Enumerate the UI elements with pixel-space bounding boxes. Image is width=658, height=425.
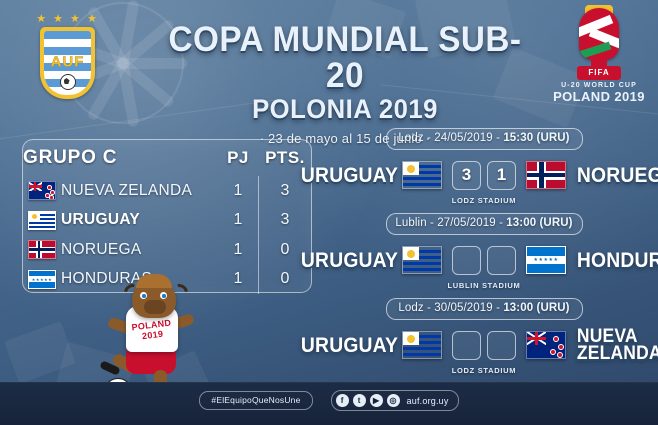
flag-cell: [23, 235, 61, 265]
mascot-jersey-text: POLAND 2019: [125, 317, 179, 343]
match-city-date: Lodz - 24/05/2019 -: [398, 132, 503, 144]
team-name: NUEVA ZELANDA: [61, 176, 218, 206]
flag-uruguay-icon: [402, 246, 442, 274]
crest-letters: AUF: [51, 53, 85, 70]
table-row: URUGUAY 1 3: [23, 206, 311, 236]
home-score: [452, 331, 481, 360]
youtube-icon[interactable]: ▶: [370, 394, 383, 407]
flag-uruguay-icon: [28, 211, 56, 230]
home-score: [452, 246, 481, 275]
footer-content: #ElEquipoQueNosUne f t ▶ ◎ auf.org.uy: [0, 390, 658, 411]
stadium-name: LODZ STADIUM: [316, 366, 652, 375]
fifa-u20-emblem: FIFA U-20 WORLD CUP POLAND 2019: [552, 8, 646, 116]
trophy-icon: FIFA: [571, 8, 627, 80]
footer-bar: #ElEquipoQueNosUne f t ▶ ◎ auf.org.uy: [0, 382, 658, 425]
emblem-host-label: POLAND 2019: [552, 89, 646, 104]
mascot-eye: [140, 292, 147, 299]
fixtures-list: Lodz - 24/05/2019 - 15:30 (URU) URUGUAY …: [316, 128, 652, 383]
match-card: Lodz - 24/05/2019 - 15:30 (URU) URUGUAY …: [316, 128, 652, 205]
team-name: URUGUAY: [61, 206, 218, 236]
home-team-name: URUGUAY: [301, 251, 391, 270]
flag-cell: ★★★★★: [23, 265, 61, 295]
column-played: PJ: [218, 140, 258, 176]
fifa-wordmark: FIFA: [571, 68, 627, 77]
matches-played: 1: [218, 265, 258, 295]
instagram-icon[interactable]: ◎: [387, 394, 400, 407]
facebook-icon[interactable]: f: [336, 394, 349, 407]
mascot-eye: [160, 292, 167, 299]
match-city-date: Lodz - 30/05/2019 -: [398, 302, 503, 314]
score-group: [449, 246, 519, 275]
away-team-name: NORUEGA: [577, 166, 658, 185]
crest-shield: AUF: [40, 27, 95, 99]
flag-honduras-icon: ★★★★★: [28, 270, 56, 289]
match-info-pill: Lublin - 27/05/2019 - 13:00 (URU): [386, 213, 583, 235]
home-team-name: URUGUAY: [301, 166, 391, 185]
flag-new-zealand-icon: [526, 331, 566, 359]
flag-norway-icon: [526, 161, 566, 189]
mascot-snout: [144, 300, 166, 314]
stadium-name: LUBLIN STADIUM: [316, 281, 652, 290]
score-group: 3 1: [449, 161, 519, 190]
matches-played: 1: [218, 176, 258, 206]
flag-cell: [23, 176, 61, 206]
flag-uruguay-icon: [402, 161, 442, 189]
away-team-name-line2: ZELANDA: [577, 345, 658, 362]
table-row: NORUEGA 1 0: [23, 235, 311, 265]
group-label: GRUPO C: [23, 140, 218, 176]
hashtag-badge: #ElEquipoQueNosUne: [199, 391, 312, 410]
flag-honduras-icon: ★★★★★: [526, 246, 566, 274]
score-group: [449, 331, 519, 360]
stadium-name: LODZ STADIUM: [316, 196, 652, 205]
flag-new-zealand-icon: [28, 181, 56, 200]
home-team-name: URUGUAY: [301, 336, 391, 355]
page-title: COPA MUNDIAL SUB-20: [160, 22, 531, 94]
match-city-date: Lublin - 27/05/2019 -: [395, 217, 506, 229]
crest-ball-icon: [60, 74, 76, 90]
match-card: Lublin - 27/05/2019 - 13:00 (URU) URUGUA…: [316, 213, 652, 290]
matches-played: 1: [218, 235, 258, 265]
mascot-hair: [136, 274, 172, 288]
flag-norway-icon: [28, 240, 56, 259]
twitter-icon[interactable]: t: [353, 394, 366, 407]
match-card: Lodz - 30/05/2019 - 13:00 (URU) URUGUAY: [316, 298, 652, 375]
match-row: URUGUAY ★★★★★ HONDURAS: [316, 240, 652, 280]
match-info-pill: Lodz - 30/05/2019 - 13:00 (URU): [386, 298, 583, 320]
flag-cell: [23, 206, 61, 236]
match-info-pill: Lodz - 24/05/2019 - 15:30 (URU): [386, 128, 583, 150]
crest-stars: ★ ★ ★ ★: [36, 14, 99, 25]
group-standings-panel: GRUPO C PJ PTS.: [22, 139, 312, 293]
home-score: 3: [452, 161, 481, 190]
away-team-name: HONDURAS: [577, 251, 658, 270]
matches-played: 1: [218, 206, 258, 236]
away-score: [487, 331, 516, 360]
page-subtitle-host: POLONIA 2019: [160, 95, 531, 124]
match-time: 15:30 (URU): [503, 132, 569, 144]
match-row: URUGUAY: [316, 325, 652, 365]
away-score: 1: [487, 161, 516, 190]
standings-table: GRUPO C PJ PTS.: [23, 140, 311, 294]
points: 3: [259, 206, 311, 236]
standings-header-row: GRUPO C PJ PTS.: [23, 140, 311, 176]
team-name: NORUEGA: [61, 235, 218, 265]
website-url[interactable]: auf.org.uy: [407, 396, 449, 406]
away-score: [487, 246, 516, 275]
match-row: URUGUAY 3 1 NORUEGA: [316, 155, 652, 195]
match-time: 13:00 (URU): [506, 217, 572, 229]
table-row: NUEVA ZELANDA 1 3: [23, 176, 311, 206]
away-team-name: NUEVA ZELANDA: [577, 328, 658, 362]
match-time: 13:00 (URU): [503, 302, 569, 314]
emblem-competition-label: U-20 WORLD CUP: [552, 82, 646, 89]
graphic-canvas: ★ ★ ★ ★ AUF COPA MUNDIAL SUB-20 POLONIA …: [0, 0, 658, 425]
auf-crest: ★ ★ ★ ★ AUF: [36, 14, 99, 100]
flag-uruguay-icon: [402, 331, 442, 359]
social-links-group[interactable]: f t ▶ ◎ auf.org.uy: [331, 390, 459, 411]
